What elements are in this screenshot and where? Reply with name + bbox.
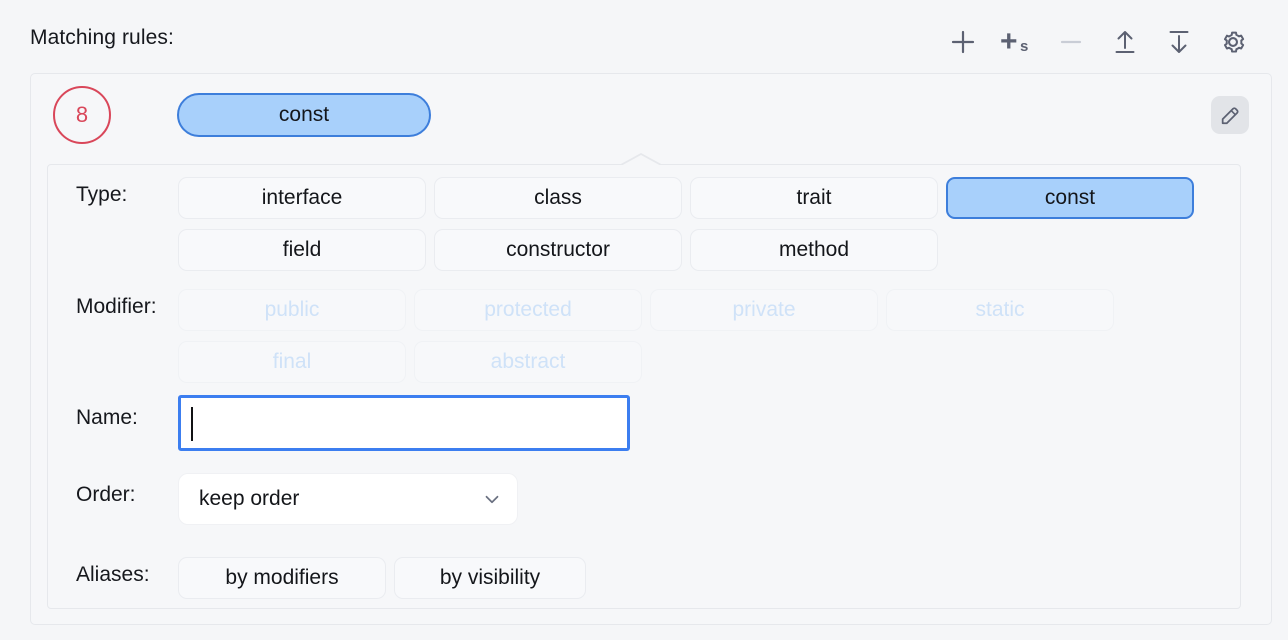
rule-index-badge: 8 bbox=[53, 86, 111, 144]
plus-s-icon: +s bbox=[1000, 27, 1034, 57]
name-input[interactable] bbox=[178, 395, 630, 451]
rule-chip-const[interactable]: const bbox=[177, 93, 431, 137]
type-option-method[interactable]: method bbox=[690, 229, 938, 271]
minus-icon bbox=[1057, 28, 1085, 56]
aliases-label: Aliases: bbox=[76, 563, 150, 587]
modifier-option-private[interactable]: private bbox=[650, 289, 878, 331]
type-option-label: trait bbox=[796, 186, 831, 210]
chevron-down-icon bbox=[481, 488, 503, 510]
settings-button[interactable] bbox=[1214, 22, 1252, 62]
type-option-label: method bbox=[779, 238, 849, 262]
modifier-option-label: abstract bbox=[491, 350, 566, 374]
type-option-field[interactable]: field bbox=[178, 229, 426, 271]
type-row: Type: interface class trait const field … bbox=[48, 165, 1240, 275]
modifier-option-final[interactable]: final bbox=[178, 341, 406, 383]
modifier-option-abstract[interactable]: abstract bbox=[414, 341, 642, 383]
modifier-label: Modifier: bbox=[76, 295, 157, 319]
modifier-option-static[interactable]: static bbox=[886, 289, 1114, 331]
type-option-label: const bbox=[1045, 186, 1095, 210]
alias-option-label: by visibility bbox=[440, 566, 540, 590]
gear-icon bbox=[1219, 28, 1247, 56]
rule-header-row: 8 const bbox=[31, 74, 1271, 159]
type-option-trait[interactable]: trait bbox=[690, 177, 938, 219]
type-option-interface[interactable]: interface bbox=[178, 177, 426, 219]
rule-editor: Type: interface class trait const field … bbox=[47, 164, 1241, 609]
arrow-up-bar-icon bbox=[1111, 28, 1139, 56]
name-row: Name: bbox=[48, 387, 1240, 469]
text-cursor bbox=[191, 407, 193, 441]
matching-rules-panel: 8 const Type: interface class trait cons… bbox=[30, 73, 1272, 625]
page-title: Matching rules: bbox=[30, 26, 174, 50]
order-select-value: keep order bbox=[199, 487, 481, 511]
add-rule-button[interactable] bbox=[944, 22, 982, 62]
move-up-button[interactable] bbox=[1106, 22, 1144, 62]
toolbar: +s bbox=[944, 22, 1252, 62]
type-option-const[interactable]: const bbox=[946, 177, 1194, 219]
type-option-class[interactable]: class bbox=[434, 177, 682, 219]
order-select[interactable]: keep order bbox=[178, 473, 518, 525]
type-option-label: interface bbox=[262, 186, 343, 210]
plus-icon bbox=[949, 28, 977, 56]
pencil-icon bbox=[1219, 104, 1241, 126]
move-down-button[interactable] bbox=[1160, 22, 1198, 62]
modifier-option-label: protected bbox=[484, 298, 572, 322]
order-row: Order: keep order bbox=[48, 465, 1240, 545]
name-label: Name: bbox=[76, 406, 138, 430]
order-label: Order: bbox=[76, 483, 136, 507]
type-option-constructor[interactable]: constructor bbox=[434, 229, 682, 271]
aliases-row: Aliases: by modifiers by visibility bbox=[48, 545, 1240, 607]
type-option-label: field bbox=[283, 238, 322, 262]
arrow-down-bar-icon bbox=[1165, 28, 1193, 56]
type-option-label: class bbox=[534, 186, 582, 210]
rule-chip-label: const bbox=[279, 103, 329, 127]
editor-caret-fill bbox=[619, 155, 663, 167]
alias-option-label: by modifiers bbox=[225, 566, 338, 590]
add-section-button[interactable]: +s bbox=[998, 22, 1036, 62]
modifier-row: Modifier: public protected private stati… bbox=[48, 277, 1240, 387]
alias-option-by-visibility[interactable]: by visibility bbox=[394, 557, 586, 599]
modifier-option-label: private bbox=[732, 298, 795, 322]
modifier-option-protected[interactable]: protected bbox=[414, 289, 642, 331]
remove-rule-button[interactable] bbox=[1052, 22, 1090, 62]
header: Matching rules: +s bbox=[0, 0, 1288, 68]
modifier-option-label: final bbox=[273, 350, 312, 374]
type-label: Type: bbox=[76, 183, 127, 207]
edit-rule-button[interactable] bbox=[1211, 96, 1249, 134]
type-option-label: constructor bbox=[506, 238, 610, 262]
modifier-option-public[interactable]: public bbox=[178, 289, 406, 331]
modifier-option-label: public bbox=[265, 298, 320, 322]
modifier-option-label: static bbox=[975, 298, 1024, 322]
alias-option-by-modifiers[interactable]: by modifiers bbox=[178, 557, 386, 599]
